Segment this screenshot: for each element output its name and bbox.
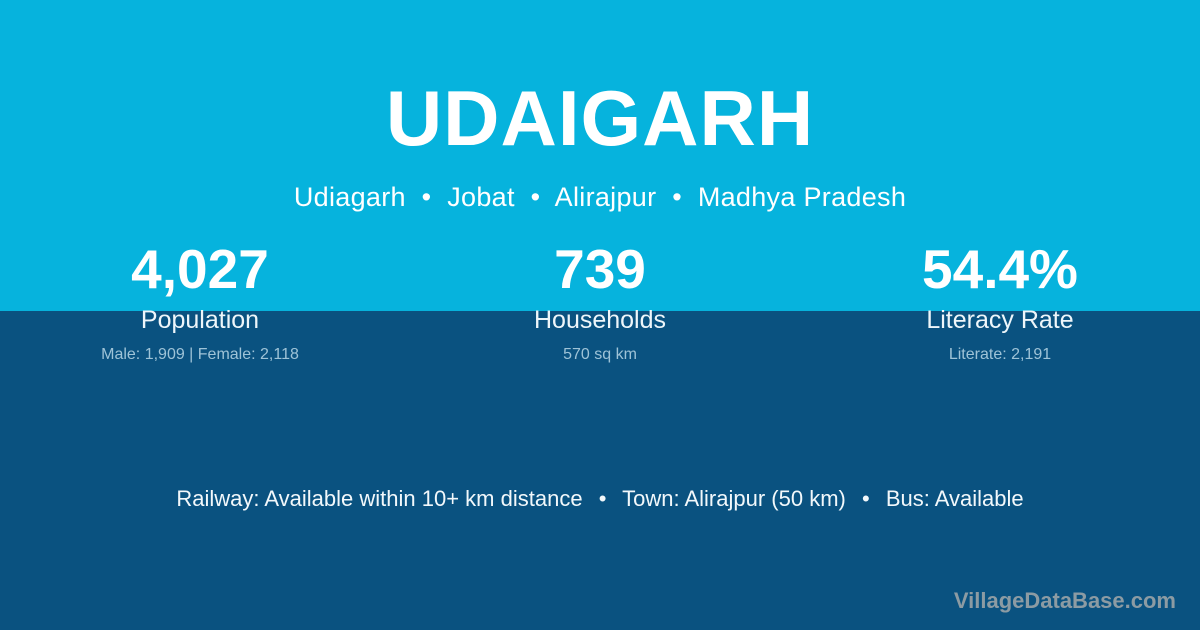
facilities-line: Railway: Available within 10+ km distanc… <box>0 485 1200 514</box>
breadcrumb: Udiagarh • Jobat • Alirajpur • Madhya Pr… <box>0 182 1200 213</box>
stat-subtext: Literate: 2,191 <box>800 345 1200 364</box>
village-info-card: UDAIGARH Udiagarh • Jobat • Alirajpur • … <box>0 0 1200 630</box>
site-watermark: VillageDataBase.com <box>954 588 1176 614</box>
stat-label: Population <box>0 305 400 335</box>
breadcrumb-separator: • <box>414 182 440 212</box>
page-title: UDAIGARH <box>0 78 1200 160</box>
stat-label: Households <box>400 305 800 335</box>
stats-row: 4,027 Population Male: 1,909 | Female: 2… <box>0 238 1200 364</box>
stat-value: 54.4% <box>800 238 1200 302</box>
breadcrumb-separator: • <box>664 182 690 212</box>
stat-value: 739 <box>400 238 800 302</box>
breadcrumb-item-district: Alirajpur <box>555 182 657 212</box>
breadcrumb-item-block: Jobat <box>447 182 515 212</box>
facility-bus: Bus: Available <box>886 486 1024 511</box>
stat-value: 4,027 <box>0 238 400 302</box>
stat-subtext: 570 sq km <box>400 345 800 364</box>
stat-literacy-rate: 54.4% Literacy Rate Literate: 2,191 <box>800 238 1200 364</box>
breadcrumb-item-village: Udiagarh <box>294 182 406 212</box>
breadcrumb-separator: • <box>523 182 549 212</box>
stat-label: Literacy Rate <box>800 305 1200 335</box>
facility-separator: • <box>852 486 880 511</box>
stat-population: 4,027 Population Male: 1,909 | Female: 2… <box>0 238 400 364</box>
facility-railway: Railway: Available within 10+ km distanc… <box>176 486 582 511</box>
stat-subtext: Male: 1,909 | Female: 2,118 <box>0 345 400 364</box>
facility-separator: • <box>589 486 617 511</box>
stat-households: 739 Households 570 sq km <box>400 238 800 364</box>
facility-town: Town: Alirajpur (50 km) <box>622 486 846 511</box>
breadcrumb-item-state: Madhya Pradesh <box>698 182 906 212</box>
